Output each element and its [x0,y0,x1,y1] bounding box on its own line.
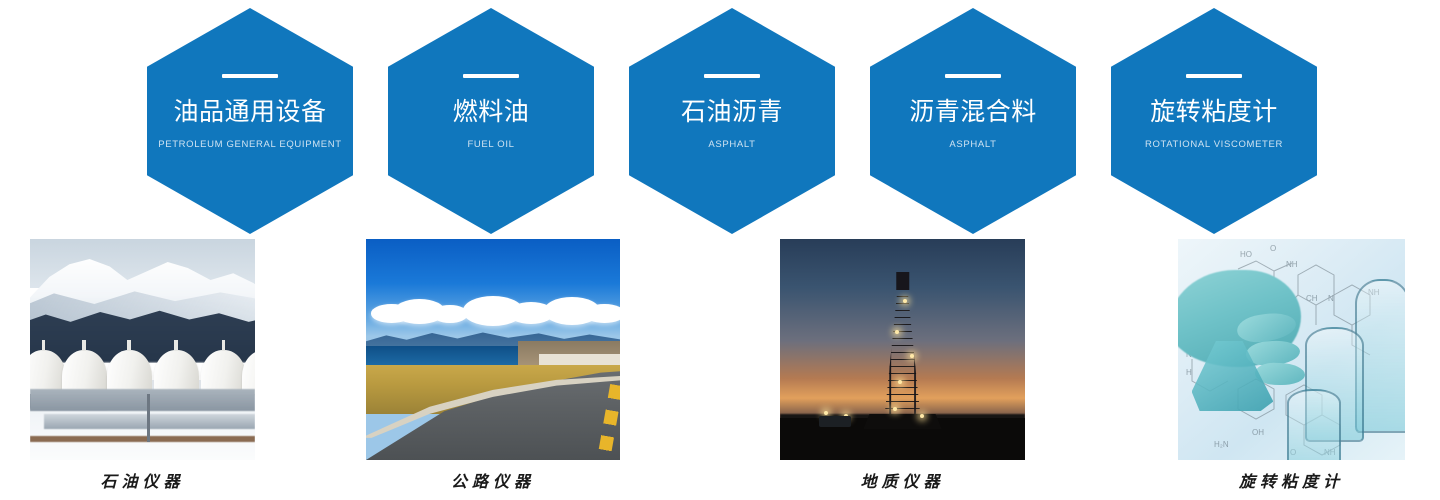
category-title: 石油沥青 [681,97,783,127]
category-hexagon-asphalt[interactable]: 石油沥青 ASPHALT [629,8,835,234]
category-title: 油品通用设备 [173,97,326,127]
svg-text:O: O [1270,244,1276,253]
category-hexagon-asphalt-mixture[interactable]: 沥青混合料 ASPHALT [870,8,1076,234]
svg-text:HO: HO [1240,250,1252,259]
test-tube [1287,389,1341,460]
cloud-layer [366,296,620,331]
photo-caption: 石油仪器 [30,472,255,492]
photo-card-petroleum-instruments[interactable]: 石油仪器 [30,239,255,492]
rail-line [30,436,255,443]
category-subtitle: ASPHALT [949,139,996,151]
photo-laboratory-chemistry[interactable]: HO O NH HO O NH CH N NH N H H₂N OH O [1178,239,1405,460]
divider-rule [1186,74,1242,78]
rig-light [893,407,897,411]
category-title: 沥青混合料 [909,97,1037,127]
category-subtitle: FUEL OIL [467,139,514,151]
category-hexagon-row: 油品通用设备 PETROLEUM GENERAL EQUIPMENT 燃料油 F… [0,0,1440,236]
photo-card-rotational-viscometer[interactable]: HO O NH HO O NH CH N NH N H H₂N OH O [1178,239,1405,492]
svg-text:OH: OH [1252,428,1264,437]
category-hexagon-fuel-oil[interactable]: 燃料油 FUEL OIL [388,8,594,234]
pipe-rack [30,389,255,411]
svg-text:NH: NH [1286,260,1298,269]
photo-caption: 旋转粘度计 [1178,472,1405,492]
photo-drilling-rig-dusk[interactable] [780,239,1025,460]
svg-text:H₂N: H₂N [1214,440,1229,449]
storage-tank [62,350,107,394]
photo-caption: 地质仪器 [780,472,1025,492]
crown-block [896,272,909,290]
photo-card-highway-instruments[interactable]: 公路仪器 [366,239,620,492]
category-subtitle: ROTATIONAL VISCOMETER [1145,139,1283,151]
photo-card-geology-instruments[interactable]: 地质仪器 [780,239,1025,492]
category-subtitle: PETROLEUM GENERAL EQUIPMENT [158,139,341,151]
storage-tank [154,350,199,394]
divider-rule [945,74,1001,78]
svg-text:H: H [1186,368,1192,377]
photo-highway-lake[interactable] [366,239,620,460]
category-hexagon-rotational-viscometer[interactable]: 旋转粘度计 ROTATIONAL VISCOMETER [1111,8,1317,234]
utility-pole [147,394,150,443]
svg-text:CH: CH [1306,294,1318,303]
category-hexagon-petroleum-general-equipment[interactable]: 油品通用设备 PETROLEUM GENERAL EQUIPMENT [147,8,353,234]
divider-rule [704,74,760,78]
derrick-mast [884,283,921,420]
rig-light [895,330,899,334]
rig-light [920,414,924,418]
category-title: 燃料油 [453,97,530,127]
rig-light [910,354,914,358]
photo-refinery-snow[interactable] [30,239,255,460]
svg-text:N: N [1328,294,1334,303]
rig-light [903,299,907,303]
photo-card-row: 石油仪器 [0,239,1440,500]
site-truck [819,416,851,427]
rig-platform [863,414,941,429]
divider-rule [222,74,278,78]
divider-rule [463,74,519,78]
page-root: 油品通用设备 PETROLEUM GENERAL EQUIPMENT 燃料油 F… [0,0,1440,500]
category-title: 旋转粘度计 [1150,97,1278,127]
category-subtitle: ASPHALT [708,139,755,151]
photo-caption: 公路仪器 [366,472,620,492]
storage-tank [107,350,152,394]
